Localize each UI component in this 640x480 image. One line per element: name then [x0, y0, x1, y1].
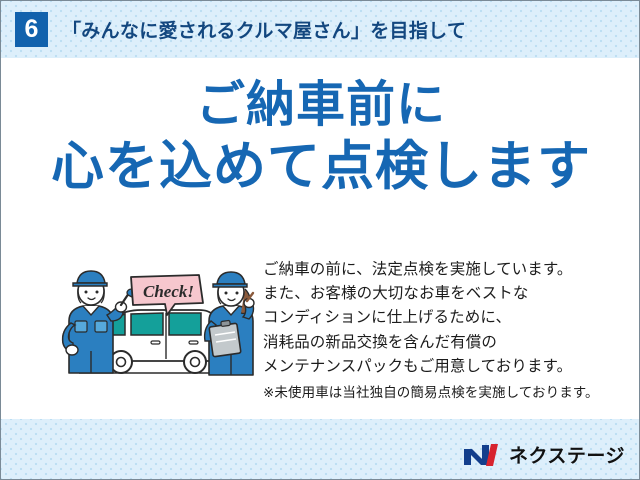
content-panel: ご納車前に 心を込めて点検します	[1, 58, 640, 419]
headline: ご納車前に 心を込めて点検します	[1, 78, 640, 196]
brand-name: ネクステージ	[509, 441, 625, 468]
header-title: 「みんなに愛されるクルマ屋さん」を目指して	[62, 16, 466, 43]
nextage-n-logo-icon	[462, 442, 502, 468]
body-copy: ご納車の前に、法定点検を実施しています。 また、お客様の大切なお車をベストな コ…	[263, 258, 633, 403]
mechanic-female	[205, 272, 254, 375]
headline-line-2: 心を込めて点検します	[1, 137, 640, 196]
brand-logo: ネクステージ	[462, 441, 625, 468]
body-copy-line-4: 消耗品の新品交換を含んだ有償の	[263, 331, 633, 355]
advertisement-panel: 6 「みんなに愛されるクルマ屋さん」を目指して ご納車前に 心を込めて点検します	[0, 0, 640, 480]
step-number-badge: 6	[15, 12, 48, 47]
body-copy-line-3: コンディションに仕上げるために、	[263, 306, 633, 330]
mechanics-illustration: Check!	[59, 263, 259, 398]
header-bar: 6 「みんなに愛されるクルマ屋さん」を目指して	[1, 1, 639, 58]
body-copy-note: ※未使用車は当社独自の簡易点検を実施しております。	[263, 382, 633, 403]
headline-line-1: ご納車前に	[1, 78, 640, 133]
check-bubble-text: Check!	[143, 282, 194, 301]
check-speech-bubble: Check!	[131, 275, 203, 315]
body-copy-line-5: メンテナンスパックもご用意しております。	[263, 355, 633, 379]
body-copy-line-2: また、お客様の大切なお車をベストな	[263, 282, 633, 306]
body-copy-line-1: ご納車の前に、法定点検を実施しています。	[263, 258, 633, 282]
